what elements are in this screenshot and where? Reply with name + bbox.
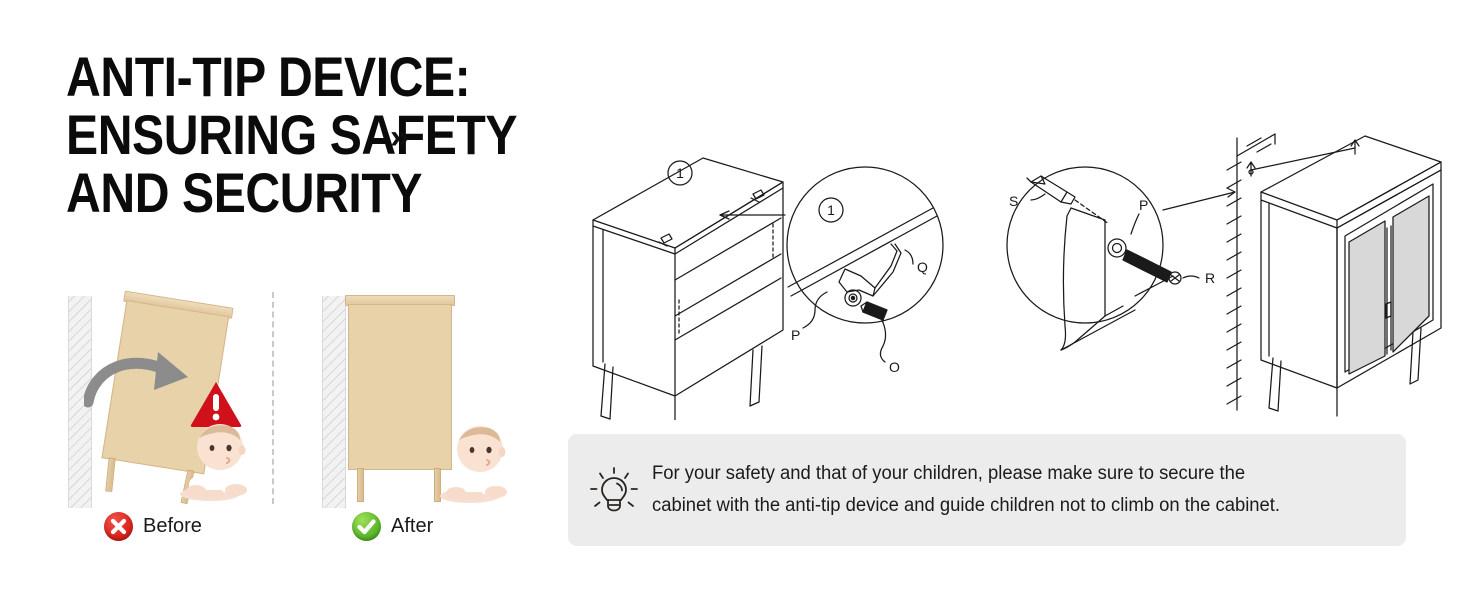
safety-tip-line-1: For your safety and that of your childre… xyxy=(652,458,1280,490)
step-badge-1: 1 xyxy=(676,165,684,181)
vertical-dashed-divider xyxy=(272,292,274,504)
safety-tip-line-2: cabinet with the anti-tip device and gui… xyxy=(652,490,1280,522)
before-label-group: Before xyxy=(104,512,202,541)
callout-q: Q xyxy=(917,259,928,275)
cabinet-leg xyxy=(105,457,116,492)
safety-tip-box: For your safety and that of your childre… xyxy=(568,434,1406,546)
callout-s: S xyxy=(1009,193,1018,209)
callout-p-2: P xyxy=(1139,197,1148,213)
before-panel xyxy=(62,288,262,508)
baby-illustration xyxy=(180,420,254,502)
assembly-diagram: 1 xyxy=(575,120,1445,420)
hatched-wall-icon xyxy=(322,296,346,508)
cabinet-leg xyxy=(357,468,364,502)
chevron-separator-icon: » xyxy=(390,118,403,157)
detail-circle-two xyxy=(1007,167,1199,350)
before-label-text: Before xyxy=(143,515,202,538)
lightbulb-icon xyxy=(586,462,642,518)
leader-line-2 xyxy=(1163,192,1235,210)
cabinet-open-back-line-drawing xyxy=(593,158,783,420)
detail-badge-1: 1 xyxy=(827,202,835,218)
upright-cabinet xyxy=(348,304,452,486)
after-panel xyxy=(318,288,518,508)
cabinet-body xyxy=(348,304,452,470)
safety-tip-text: For your safety and that of your childre… xyxy=(652,458,1280,522)
page-title: ANTI-TIP DEVICE: ENSURING SAFETY AND SEC… xyxy=(66,48,530,222)
after-label-text: After xyxy=(391,515,433,538)
callout-o: O xyxy=(889,359,900,375)
check-circle-icon xyxy=(352,512,381,541)
callout-p: P xyxy=(791,327,800,343)
tipping-arrow-icon xyxy=(84,346,204,416)
anti-tip-infographic: ANTI-TIP DEVICE: ENSURING SAFETY AND SEC… xyxy=(0,0,1464,600)
cross-circle-icon xyxy=(104,512,133,541)
after-label-group: After xyxy=(352,512,433,541)
callout-r: R xyxy=(1205,270,1215,286)
baby-illustration xyxy=(440,422,514,504)
cabinet-secured-to-wall-line-drawing xyxy=(1227,134,1441,416)
